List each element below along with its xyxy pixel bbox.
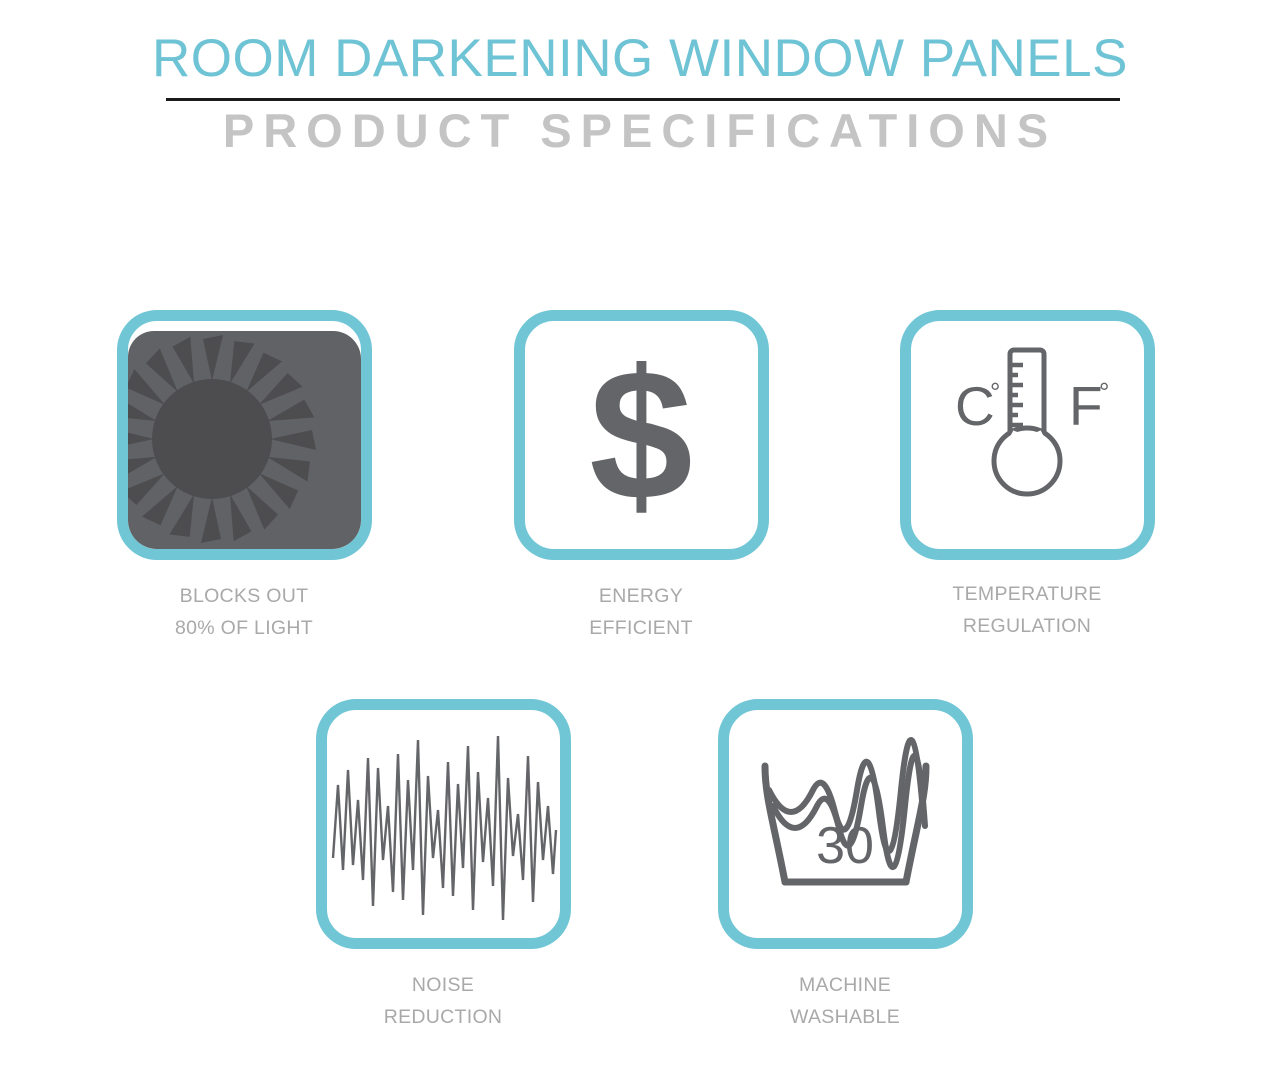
wash-temperature-value: 30 [816,817,874,875]
svg-text:°: ° [1099,377,1109,407]
icon-tile [117,310,372,560]
feature-caption: NOISE REDUCTION [312,949,574,1033]
sound-wave-icon [327,710,560,938]
svg-text:$: $ [589,332,692,539]
feature-caption: MACHINE WASHABLE [714,949,976,1033]
thermometer-icon: C ° F ° [911,321,1144,549]
svg-text:F: F [1069,375,1103,437]
icon-tile: 30 [718,699,973,949]
dollar-sign-icon: $ [525,321,758,549]
svg-text:°: ° [990,377,1000,407]
svg-text:C: C [955,375,995,437]
feature-blocks-light[interactable]: BLOCKS OUT 80% OF LIGHT [113,310,375,644]
sun-blocked-icon [128,321,361,549]
feature-caption: ENERGY EFFICIENT [510,560,772,644]
feature-noise-reduction[interactable]: NOISE REDUCTION [312,699,574,1033]
page-header: ROOM DARKENING WINDOW PANELS PRODUCT SPE… [0,0,1280,160]
feature-temperature-regulation[interactable]: C ° F ° TEMPERATURE REGULATION [896,310,1158,642]
icon-tile: $ [514,310,769,560]
page-title: ROOM DARKENING WINDOW PANELS [0,0,1280,90]
feature-machine-washable[interactable]: 30 MACHINE WASHABLE [714,699,976,1033]
icon-tile [316,699,571,949]
title-divider [166,98,1120,101]
wash-tub-icon: 30 [729,710,962,938]
feature-caption: BLOCKS OUT 80% OF LIGHT [113,560,375,644]
feature-caption: TEMPERATURE REGULATION [896,560,1158,642]
feature-energy-efficient[interactable]: $ ENERGY EFFICIENT [510,310,772,644]
icon-tile: C ° F ° [900,310,1155,560]
